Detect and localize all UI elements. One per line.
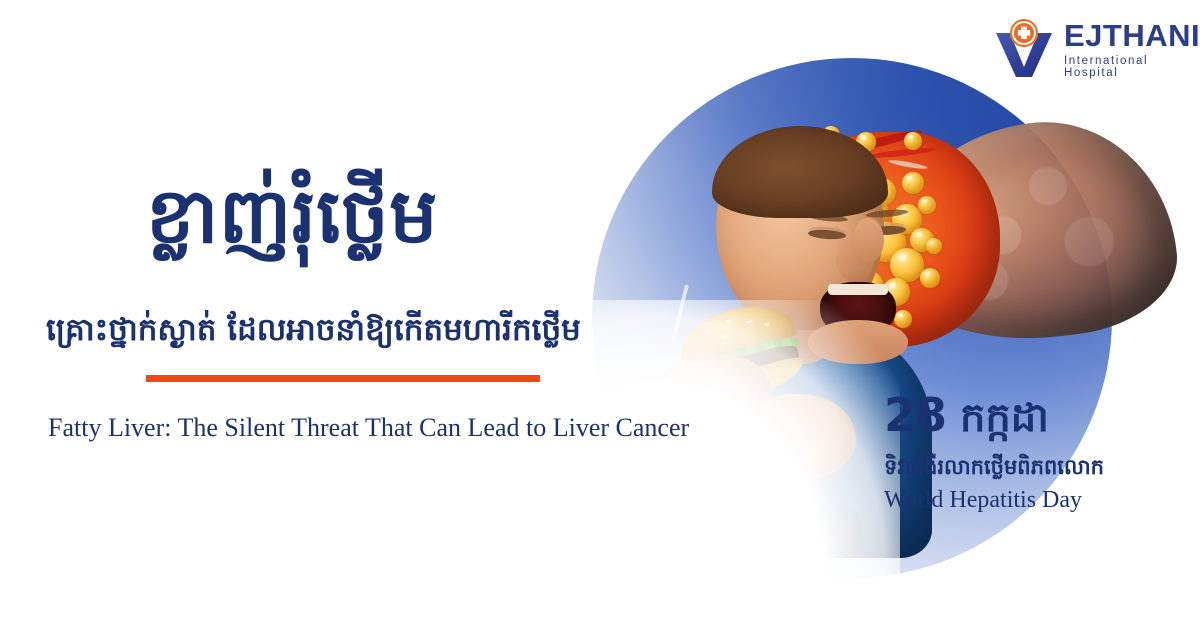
orange-divider (146, 375, 540, 382)
hospital-logo[interactable]: EJTHANI International Hospital (992, 16, 1200, 79)
logo-text: EJTHANI International Hospital (1064, 16, 1200, 79)
hair (712, 126, 888, 218)
event-name-english: World Hepatitis Day (884, 487, 1184, 514)
event-name-khmer: ទិវាជំងឺរលាកថ្លើមពិភពលោក (884, 454, 1184, 485)
ear (854, 218, 884, 262)
date-month: កក្កដា (960, 392, 1049, 451)
sesame-seed (721, 335, 728, 339)
chin (808, 320, 908, 364)
medical-cross-v-icon (992, 17, 1056, 79)
hepatitis-day-banner: ខ្លាញ់រុំថ្លើម គ្រោះថ្នាក់ស្ងាត់ ដែលអាចន… (0, 0, 1200, 628)
date-day: 28 (884, 388, 946, 442)
hand-right (744, 394, 856, 480)
observance-date-block: 28 កក្កដា ទិវាជំងឺរលាកថ្លើមពិភពលោក World… (884, 388, 1184, 514)
eyebrow-right (866, 208, 908, 219)
eye-left (808, 229, 847, 241)
date-line: 28 កក្កដា (884, 388, 1184, 451)
subtitle-english: Fatty Liver: The Silent Threat That Can … (48, 412, 689, 443)
sesame-seed (746, 320, 753, 324)
sesame-seed (726, 319, 733, 323)
sesame-seed (706, 329, 713, 333)
page-title: ខ្លាញ់រុំថ្លើម (146, 176, 438, 257)
teeth (828, 284, 888, 295)
logo-tagline: International Hospital (1064, 56, 1200, 79)
logo-name: EJTHANI (1064, 20, 1200, 51)
sesame-seed (764, 322, 771, 326)
subtitle-khmer: គ្រោះថ្នាក់ស្ងាត់ ដែលអាចនាំឱ្យកើតមហារីកថ… (46, 312, 581, 349)
